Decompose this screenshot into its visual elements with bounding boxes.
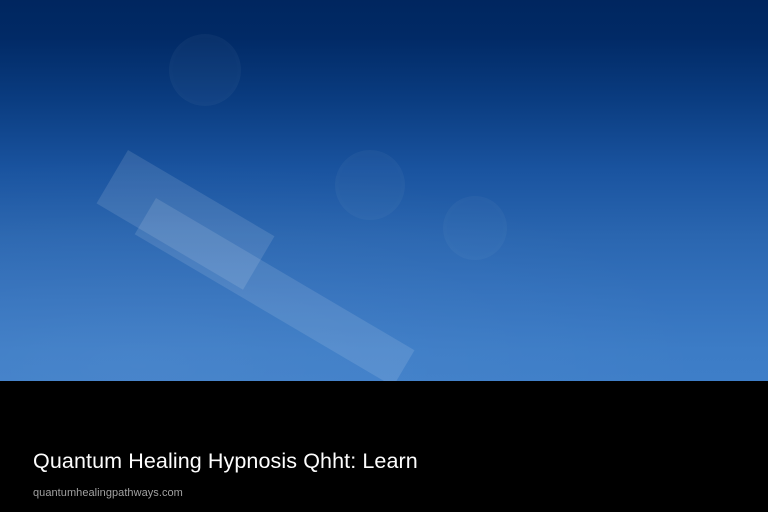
circle-orb-icon — [335, 150, 405, 220]
hero-image[interactable] — [0, 0, 768, 381]
source-domain[interactable]: quantumhealingpathways.com — [33, 487, 183, 500]
diagonal-bar-icon — [97, 150, 275, 290]
diagonal-implement-group — [0, 0, 768, 381]
hero-vignette-overlay — [0, 0, 768, 381]
page-title[interactable]: Quantum Healing Hypnosis Qhht: Learn — [33, 449, 418, 474]
caption-band: Quantum Healing Hypnosis Qhht: Learn qua… — [0, 381, 768, 512]
circle-orb-icon — [443, 196, 507, 260]
diagonal-bar-icon — [135, 198, 415, 381]
result-card[interactable]: Quantum Healing Hypnosis Qhht: Learn qua… — [0, 0, 768, 512]
circle-orb-icon — [169, 34, 241, 106]
